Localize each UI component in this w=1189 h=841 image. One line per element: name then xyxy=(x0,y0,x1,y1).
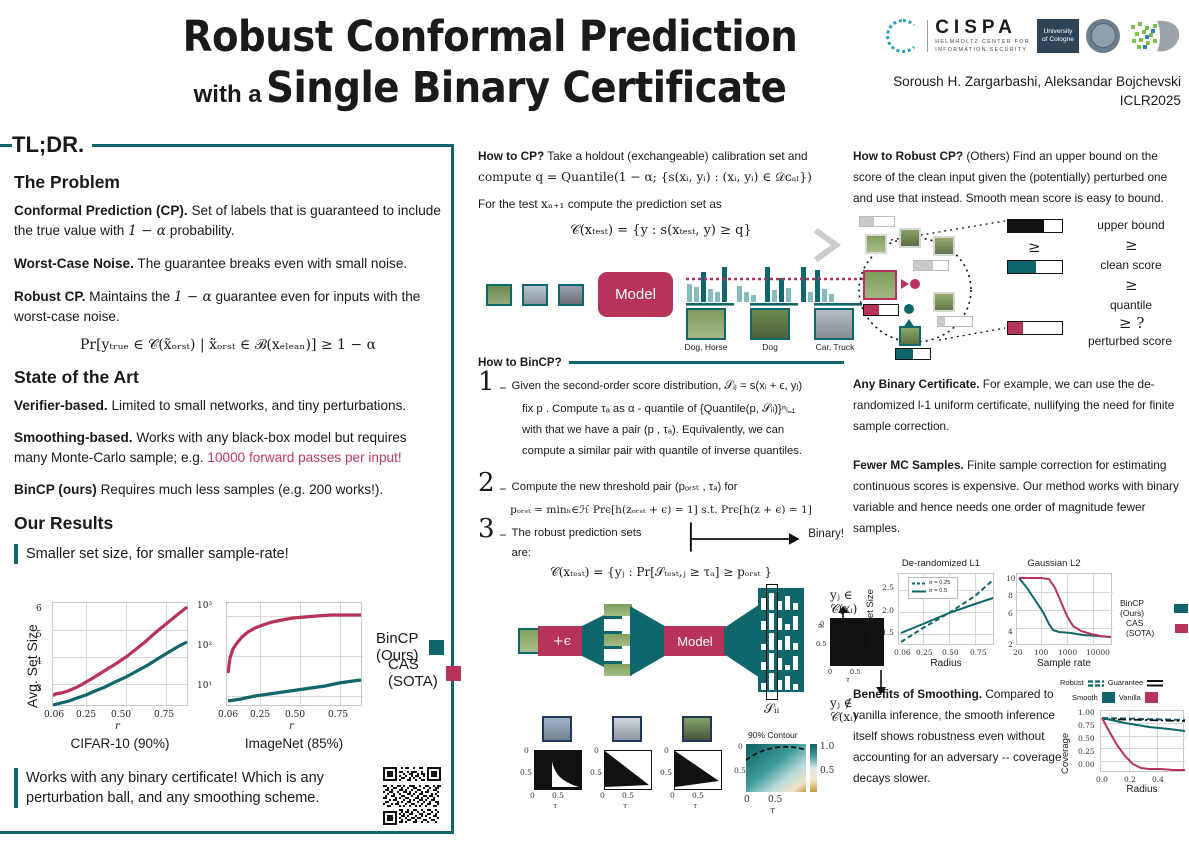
how-to-robust-cp: How to Robust CP? (Others) Find an upper… xyxy=(853,146,1185,209)
cifar-xtick-1: 0.06 xyxy=(44,710,64,720)
cifar-xtick-2: 0.25 xyxy=(76,710,96,720)
right-chart-ylabel: Avg. Set Size xyxy=(865,589,876,646)
result-bullet-1: Smaller set size, for smaller sample-rat… xyxy=(14,544,442,564)
derandomized-l1-chart: σ = 0.25 σ = 0.5 xyxy=(898,573,994,645)
imagenet-caption: ImageNet (85%) xyxy=(226,736,362,751)
coverage-xtick-02: 0.2 xyxy=(1124,775,1136,784)
cp-test-math: xₙ₊₁ xyxy=(541,197,564,211)
gl2-ytick-8: 8 xyxy=(1008,591,1013,600)
gl2-ytick-10: 10 xyxy=(1006,574,1016,583)
gl2-xtick-2: 100 xyxy=(1034,648,1048,657)
upper-bound-label: upper bound xyxy=(1075,218,1187,232)
derandomized-legend: σ = 0.25 σ = 0.5 xyxy=(908,577,958,599)
tau-axis-label: τ xyxy=(846,676,850,684)
drl1-ytick-25: 2.5 xyxy=(882,583,894,592)
bincp-section-rule: How to BinCP? xyxy=(478,356,844,369)
mini-panel-3 xyxy=(674,750,722,790)
bincp-ours: BinCP (ours) Requires much less samples … xyxy=(14,480,442,500)
gl2-xlabel: Sample rate xyxy=(1016,658,1112,669)
sigma-05-label: σ = 0.5 xyxy=(929,588,947,594)
robust-bold: Robust CP. xyxy=(14,289,86,304)
quantile-label: quantile xyxy=(1075,298,1187,312)
contour-colorbar xyxy=(810,744,817,792)
authors-block: Soroush H. Zargarbashi, Aleksandar Bojch… xyxy=(893,72,1181,110)
cispa-name: CISPA xyxy=(935,18,1030,37)
cifar-caption: CIFAR-10 (90%) xyxy=(52,736,188,751)
bincp-pipeline-diagram: +ϵ Model xyxy=(478,580,844,710)
geq-1: ≥ xyxy=(1028,238,1041,256)
imagenet-xlabel: r xyxy=(289,721,294,732)
brain-mosaic-logo xyxy=(1127,19,1181,53)
fewer-mc-samples: Fewer MC Samples. Finite sample correcti… xyxy=(853,455,1187,539)
how-to-cp-text: Take a holdout (exchangeable) calibratio… xyxy=(544,149,807,163)
robust-math: 1 − α xyxy=(174,289,212,305)
step-3: 3 – The robust prediction sets are: Bina… xyxy=(478,518,844,563)
mini2-xtick-05: 0.5 xyxy=(622,791,634,800)
perturbed-score-bar xyxy=(863,304,899,316)
coverage-xlabel: Radius xyxy=(1100,784,1184,795)
sigma-025-label: σ = 0.25 xyxy=(929,580,950,586)
coverage-ytick-100: 1.00 xyxy=(1078,708,1095,717)
logo-row: CISPA HELMHOLTZ CENTER FOR INFORMATION S… xyxy=(886,18,1181,54)
mini1-xlabel: τ xyxy=(553,801,557,810)
step-2-body: Compute the new threshold pair (pₒᵣₛₜ , … xyxy=(512,472,738,497)
perturbed-score-label: perturbed score xyxy=(1071,334,1189,348)
step-1-line-3: with that we have a pair (p , τₐ). Equiv… xyxy=(522,420,844,441)
imagenet-xtick-1: 0.06 xyxy=(218,710,238,720)
output-thumb-1 xyxy=(686,308,726,340)
coverage-xtick-0: 0.0 xyxy=(1096,775,1108,784)
step-2-number: 2 xyxy=(478,472,495,494)
gaussian-l2-title: Gaussian L2 xyxy=(1004,558,1104,569)
geq-2: ≥ xyxy=(1125,236,1138,254)
gaussian-l2-chart xyxy=(1016,573,1112,645)
right-legend-bincp-swatch xyxy=(1174,604,1188,613)
gl2-xtick-1: 20 xyxy=(1013,648,1023,657)
result-bullet-1-text: Smaller set size, for smaller sample-rat… xyxy=(26,544,289,564)
any-binary-certificate: Any Binary Certificate. For example, we … xyxy=(853,374,1187,437)
right-legend-bincp: BinCP (Ours) xyxy=(1120,598,1188,618)
uni-line-2: of Cologne xyxy=(1042,36,1074,44)
coverage-legend-vanilla-label: Vanilla xyxy=(1119,693,1141,702)
cp-prediction-set-formula: 𝒞(xₜₑₛₜ) = {y : s(xₜₑₛₜ, y) ≥ q} xyxy=(478,223,844,238)
legend-swatch-cas xyxy=(446,666,461,681)
output-thumb-2 xyxy=(750,308,790,340)
cloud-thumb-3 xyxy=(933,236,955,256)
sii-highlight-box xyxy=(766,584,778,700)
gl2-ytick-6: 6 xyxy=(1008,609,1013,618)
bullet-bar-icon xyxy=(14,544,18,564)
left-legend-cas: CAS (SOTA) xyxy=(388,656,461,690)
middle-column: How to CP? Take a holdout (exchangeable)… xyxy=(478,146,844,247)
worst-case-noise: Worst-Case Noise. The guarantee breaks e… xyxy=(14,254,442,274)
our-results-heading: Our Results xyxy=(14,513,442,534)
cispa-subtitle-2: INFORMATION SECURITY xyxy=(935,48,1030,53)
gl2-xtick-4: 10000 xyxy=(1086,648,1110,657)
rule-line xyxy=(569,361,844,364)
imagenet-ytick-1: 10¹ xyxy=(197,681,212,691)
drl1-xtick-1: 0.06 xyxy=(894,648,911,657)
mini1-xtick-05: 0.5 xyxy=(552,791,564,800)
left-figure-group: Avg. Set Size 6 5 4 3 0.06 0.25 0.50 0.7… xyxy=(14,594,444,719)
cp-pipeline-diagram: Model Dog, Horse Dog xyxy=(478,262,844,348)
contour-title: 90% Contour xyxy=(748,730,798,740)
cloud-thumb-1 xyxy=(865,234,887,254)
contour-xlabel: τ xyxy=(770,806,775,816)
step-3-formula: 𝒞(xₜₑₛₜ) = {yⱼ : Pr[𝒮ₜₑₛₜ,ⱼ ≥ τₐ] ≥ pₒᵣₛ… xyxy=(478,565,844,580)
step-2-formula: pₒᵣₛₜ = minₕ∈ℋ Prϵ[h(zₒᵣₛₜ + ϵ) = 1] s.t… xyxy=(478,504,844,516)
cp-test-a: For the test xyxy=(478,197,541,211)
robust-cp-formula: Pr[yₜᵣᵤₑ ∈ 𝒞(x̃ₒᵣₛₜ) | x̃ₒᵣₛₜ ∈ ℬ(xₑₗₑₐₙ… xyxy=(14,337,442,353)
step-3-number: 3 xyxy=(478,518,495,540)
step-2: 2 – Compute the new threshold pair (pₒᵣₛ… xyxy=(478,472,844,500)
coverage-xtick-04: 0.4 xyxy=(1152,775,1164,784)
how-to-cp-line: How to CP? Take a holdout (exchangeable)… xyxy=(478,146,844,166)
step-3-body: The robust prediction sets are: xyxy=(512,518,660,563)
perturbed-score-bar-right xyxy=(1007,321,1063,335)
cp-bold: Conformal Prediction (CP). xyxy=(14,203,188,218)
cloud-thumb-4 xyxy=(933,292,955,312)
drl1-xlabel: Radius xyxy=(898,658,994,669)
clean-score-label: clean score xyxy=(1075,258,1187,272)
noise-bold: Worst-Case Noise. xyxy=(14,256,134,271)
smoothing-based: Smoothing-based. Works with any black-bo… xyxy=(14,428,442,467)
imagenet-ytick-3: 10³ xyxy=(197,601,212,611)
step-2-dash: – xyxy=(500,472,507,500)
cp-test-b: compute the prediction set as xyxy=(564,197,721,211)
logo-divider xyxy=(927,20,928,52)
coverage-legend-robust: Robust Guarantee xyxy=(1060,678,1163,687)
crimson-marker-icon xyxy=(901,278,923,290)
right-charts-row: De-randomized L1 Gaussian L2 Avg. Set Si… xyxy=(858,558,1188,678)
university-seal-icon xyxy=(1086,19,1120,53)
sii-label: 𝒮ᵢᵢ xyxy=(764,702,779,717)
page-title-line1: Robust Conformal Prediction xyxy=(120,12,860,62)
mini-thumb-1 xyxy=(542,716,572,742)
legend-swatch-bincp xyxy=(429,640,444,655)
robust-cp-text: Robust CP. Maintains the 1 − α guarantee… xyxy=(14,287,442,327)
bincp-text: Requires much less samples (e.g. 200 wor… xyxy=(97,482,383,497)
contour-max: 1.0 xyxy=(820,742,834,752)
cifar-ytick-5: 5 xyxy=(36,630,42,640)
cloud-bar-2 xyxy=(937,316,973,327)
smooth-bold: Benefits of Smoothing. xyxy=(853,687,982,701)
title-with-a: with a xyxy=(194,81,262,108)
bincp-model-box: Model xyxy=(664,626,726,656)
smoothing-bold: Smoothing-based. xyxy=(14,430,133,445)
cispa-subtitle-1: HELMHOLTZ CENTER FOR xyxy=(935,40,1030,45)
coverage-legend-robust-label: Robust xyxy=(1060,678,1084,687)
author-names: Soroush H. Zargarbashi, Aleksandar Bojch… xyxy=(893,72,1181,91)
step-1-line-1: Given the second-order score distributio… xyxy=(512,376,803,396)
step-3-dash: – xyxy=(500,518,507,546)
smoothing-benefits-text: Benefits of Smoothing. Compared to vanil… xyxy=(853,684,1063,789)
cloud-thumb-2 xyxy=(899,228,921,248)
clean-score-bar xyxy=(895,348,931,360)
cifar10-chart xyxy=(52,602,188,706)
mini-thumb-2 xyxy=(612,716,642,742)
grey-arrow-icon xyxy=(812,228,846,262)
gl2-xtick-3: 1000 xyxy=(1058,648,1077,657)
imagenet-ytick-2: 10² xyxy=(197,641,212,651)
how-to-cp-bold: How to CP? xyxy=(478,149,544,163)
robust-cp-illustration: ≥ upper bound ≥ clean score ≥ quantile ≥… xyxy=(853,216,1189,356)
coverage-legend-smooth-label: Smooth xyxy=(1072,693,1098,702)
coverage-chart xyxy=(1100,710,1184,772)
verifier-text: Limited to small networks, and tiny pert… xyxy=(108,398,406,413)
mc-bold: Fewer MC Samples. xyxy=(853,458,964,472)
epsilon-box: +ϵ xyxy=(538,626,586,656)
derandomized-l1-title: De-randomized L1 xyxy=(886,558,996,569)
step-1-line-4: compute a similar pair with quantile of … xyxy=(522,441,844,462)
drl1-xtick-2: 0.25 xyxy=(916,648,933,657)
p-tick-05: 0.5 xyxy=(816,640,826,648)
smoothing-highlight: 10000 forward passes per input! xyxy=(207,450,401,465)
smooth-text: Compared to vanilla inference, the smoot… xyxy=(853,687,1062,785)
cifar-ytick-4: 4 xyxy=(36,657,42,667)
fan-in-teal xyxy=(630,606,668,676)
poster-root: Robust Conformal Prediction with a Singl… xyxy=(0,0,1189,841)
result-bullet-2: Works with any binary certificate! Which… xyxy=(14,768,354,808)
title-block: Robust Conformal Prediction with a Singl… xyxy=(120,12,860,124)
imagenet-xtick-2: 0.25 xyxy=(250,710,270,720)
right-legend-cas-swatch xyxy=(1175,624,1188,633)
cifar-ytick-3: 3 xyxy=(36,684,42,694)
cloud-bar-1 xyxy=(913,260,949,271)
tldr-label: TL;DR. xyxy=(12,132,92,158)
venue-label: ICLR2025 xyxy=(893,91,1181,110)
cp-text2: probability. xyxy=(166,223,235,238)
drl1-ytick-20: 2.0 xyxy=(882,606,894,615)
imagenet-xtick-3: 0.50 xyxy=(285,710,305,720)
cifar-xtick-4: 0.75 xyxy=(154,710,174,720)
coverage-legend-guarantee-label: Guarantee xyxy=(1108,678,1143,687)
clean-thumb xyxy=(899,326,921,346)
cifar-xlabel: r xyxy=(115,721,120,732)
bottom-mini-panels: 0 0.5 0 0.5 τ 0 0.5 0 0.5 τ 0 0.5 0 0.5 … xyxy=(500,716,844,826)
smooth-swatch xyxy=(1102,692,1115,703)
coverage-legend-smooth: Smooth Vanilla xyxy=(1072,692,1158,703)
cp-definition: Conformal Prediction (CP). Set of labels… xyxy=(14,201,442,241)
mini1-xtick-0: 0 xyxy=(530,791,535,800)
coverage-ytick-000: 0.00 xyxy=(1078,760,1095,769)
page-title-line2: with a Single Binary Certificate xyxy=(120,62,860,124)
imagenet-chart xyxy=(226,602,362,706)
score-matrix xyxy=(758,588,804,692)
cloud-bar-0 xyxy=(859,216,895,227)
benefits-of-smoothing: Benefits of Smoothing. Compared to vanil… xyxy=(853,684,1063,799)
perturbed-thumb xyxy=(863,270,897,300)
mini2-xtick-0: 0 xyxy=(600,791,605,800)
step-1-rest: fix p . Compute τₐ as α - quantile of {Q… xyxy=(478,399,844,462)
right-legend-bincp-label: BinCP (Ours) xyxy=(1120,598,1169,618)
coverage-ytick-025: 0.25 xyxy=(1078,747,1095,756)
verifier-bold: Verifier-based. xyxy=(14,398,108,413)
binary-label: Binary! xyxy=(808,518,844,540)
uni-line-1: University xyxy=(1044,28,1073,36)
drl1-xtick-3: 0.50 xyxy=(942,648,959,657)
mini-thumb-3 xyxy=(682,716,712,742)
drl1-xtick-4: 0.75 xyxy=(970,648,987,657)
robust-dash-icon xyxy=(1088,679,1104,687)
contour-xtick-0: 0 xyxy=(744,795,750,805)
step-1-number: 1 xyxy=(478,371,495,393)
coverage-ylabel: Coverage xyxy=(1060,733,1071,774)
coverage-ytick-050: 0.50 xyxy=(1078,734,1095,743)
contour-xtick-05: 0.5 xyxy=(768,795,782,805)
robust-text: Maintains the xyxy=(86,289,174,304)
cifar-xtick-3: 0.50 xyxy=(111,710,131,720)
noisy-samples-stack xyxy=(604,604,632,678)
cifar-ytick-6: 6 xyxy=(36,604,42,614)
state-of-the-art-heading: State of the Art xyxy=(14,367,442,388)
poster-header: Robust Conformal Prediction with a Singl… xyxy=(0,0,1189,128)
qr-code[interactable] xyxy=(383,767,441,825)
coverage-chart-group: Robust Guarantee Smooth Vanilla Coverage xyxy=(1058,678,1188,808)
mini3-xlabel: τ xyxy=(693,801,697,810)
contour-mid: 0.5 xyxy=(820,766,834,776)
gl2-ytick-4: 4 xyxy=(1008,627,1013,636)
step-1-dash: – xyxy=(500,371,507,399)
cert-bold: Any Binary Certificate. xyxy=(853,377,980,391)
contour-heatmap xyxy=(746,744,806,792)
coverage-ytick-075: 0.75 xyxy=(1078,721,1095,730)
how-to-bincp-section: How to BinCP? 1 – Given the second-order… xyxy=(478,350,844,580)
binary-arrow-icon xyxy=(687,522,804,552)
input-thumb-1 xyxy=(486,284,512,306)
cp-test-line: For the test xₙ₊₁ compute the prediction… xyxy=(478,194,844,214)
mini2-xlabel: τ xyxy=(623,801,627,810)
tau-tick-0: 0 xyxy=(828,668,832,676)
cp-quantile-formula: compute q = Quantile(1 − α; {s(xᵢ, yᵢ) :… xyxy=(478,166,844,189)
robust-cp-bold: How to Robust CP? xyxy=(853,149,963,163)
fan-out-scores xyxy=(724,604,760,678)
step-1-body: Given the second-order score distributio… xyxy=(512,371,803,396)
right-column: How to Robust CP? (Others) Find an upper… xyxy=(853,146,1185,219)
geq-3: ≥ xyxy=(1125,276,1138,294)
cispa-logo: CISPA HELMHOLTZ CENTER FOR INFORMATION S… xyxy=(886,18,1030,54)
legend-label-cas: CAS (SOTA) xyxy=(388,656,438,690)
input-thumb-3 xyxy=(558,284,584,306)
cispa-circle-icon xyxy=(886,19,920,53)
mini3-xtick-0: 0 xyxy=(670,791,675,800)
step-1: 1 – Given the second-order score distrib… xyxy=(478,371,844,399)
output-thumb-3 xyxy=(814,308,854,340)
input-thumb-2 xyxy=(522,284,548,306)
the-problem-heading: The Problem xyxy=(14,172,442,193)
mini-panel-2 xyxy=(604,750,652,790)
left-column: The Problem Conformal Prediction (CP). S… xyxy=(14,172,442,570)
cp-math: 1 − α xyxy=(128,223,166,239)
verifier-based: Verifier-based. Limited to small network… xyxy=(14,396,442,416)
title-subtitle: Single Binary Certificate xyxy=(266,63,786,113)
right-legend-cas: CAS (SOTA) xyxy=(1126,618,1188,638)
mini3-xtick-05: 0.5 xyxy=(692,791,704,800)
step-1-line-2: fix p . Compute τₐ as α - quantile of {Q… xyxy=(522,399,844,420)
mini-panel-1 xyxy=(534,750,582,790)
vanilla-swatch xyxy=(1145,692,1158,703)
university-of-cologne-logo: University of Cologne xyxy=(1037,19,1079,53)
right-text-blocks: Any Binary Certificate. For example, we … xyxy=(853,374,1187,549)
right-legend-cas-label: CAS (SOTA) xyxy=(1126,618,1170,638)
clean-score-bar-right xyxy=(1007,260,1063,274)
model-box: Model xyxy=(598,272,673,317)
noise-text: The guarantee breaks even with small noi… xyxy=(134,256,407,271)
guarantee-dash-icon xyxy=(1147,679,1163,687)
geq-4: ≥ ? xyxy=(1119,314,1144,332)
imagenet-xtick-4: 0.75 xyxy=(328,710,348,720)
drl1-ytick-15: 1.5 xyxy=(882,628,894,637)
bincp-bold: BinCP (ours) xyxy=(14,482,97,497)
bullet-bar-icon-2 xyxy=(14,768,18,808)
result-bullet-2-text: Works with any binary certificate! Which… xyxy=(26,768,354,808)
upper-bound-bar xyxy=(1007,219,1063,233)
